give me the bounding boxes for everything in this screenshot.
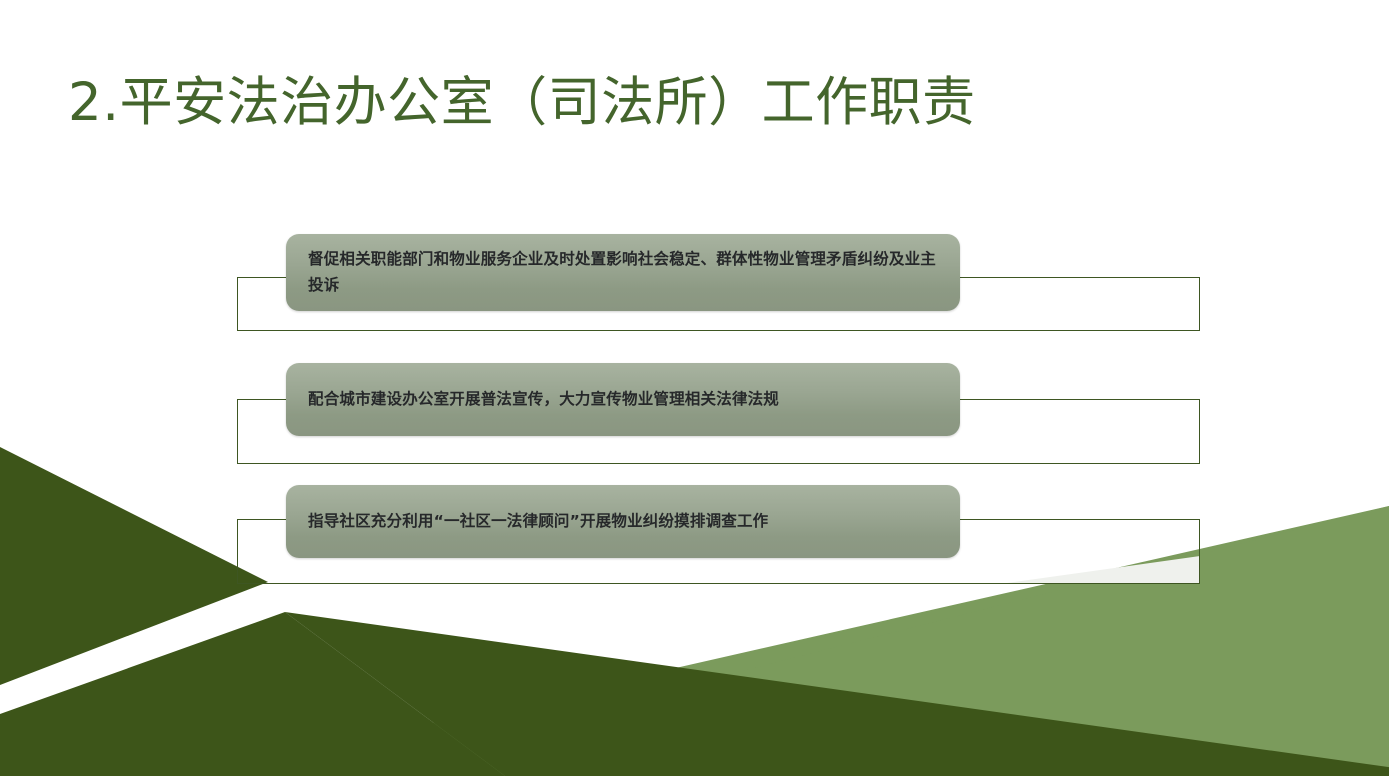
row-callout-chip[interactable]: 配合城市建设办公室开展普法宣传，大力宣传物业管理相关法律法规 — [286, 363, 960, 436]
diagram-container: 督促相关职能部门和物业服务企业及时处置影响社会稳定、群体性物业管理矛盾纠纷及业主… — [0, 0, 1389, 776]
row-callout-text: 督促相关职能部门和物业服务企业及时处置影响社会稳定、群体性物业管理矛盾纠纷及业主… — [308, 247, 938, 297]
row-callout-chip[interactable]: 指导社区充分利用“一社区一法律顾问”开展物业纠纷摸排调查工作 — [286, 485, 960, 558]
row-callout-chip[interactable]: 督促相关职能部门和物业服务企业及时处置影响社会稳定、群体性物业管理矛盾纠纷及业主… — [286, 234, 960, 311]
slide-canvas: 2.平安法治办公室（司法所）工作职责 督促相关职能部门和物业服务企业及时处置影响… — [0, 0, 1389, 776]
row-callout-text: 配合城市建设办公室开展普法宣传，大力宣传物业管理相关法律法规 — [308, 387, 779, 412]
row-callout-text: 指导社区充分利用“一社区一法律顾问”开展物业纠纷摸排调查工作 — [308, 509, 768, 534]
